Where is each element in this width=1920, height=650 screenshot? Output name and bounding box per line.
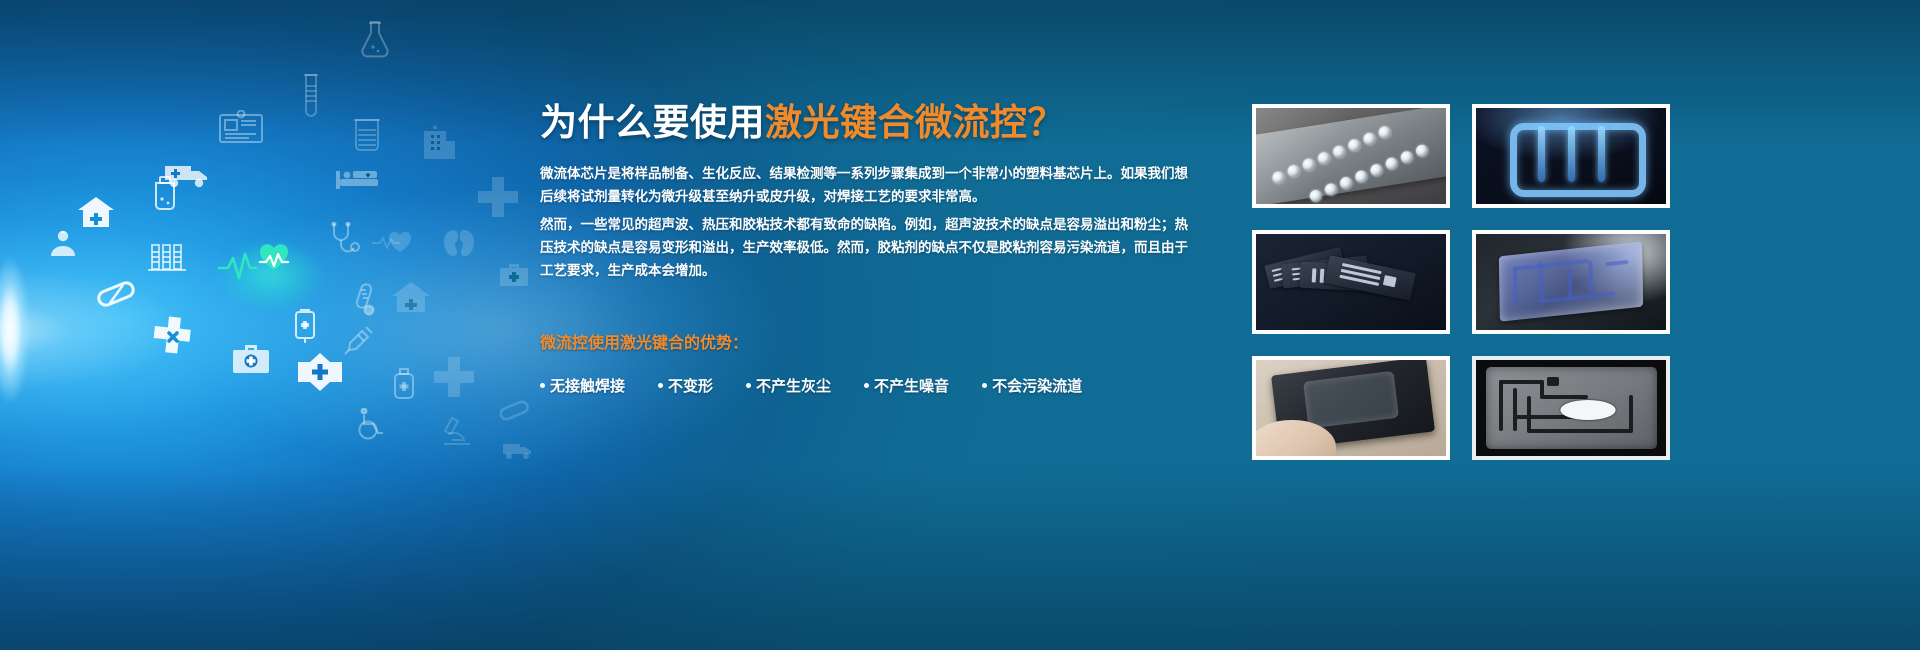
- list-item: 不产生噪音: [864, 375, 949, 396]
- list-item: 不变形: [658, 375, 713, 396]
- photo-fan-of-microfluidic-slides[interactable]: [1252, 230, 1450, 334]
- bullet-dot-icon: [982, 383, 987, 388]
- list-item: 不产生灰尘: [746, 375, 831, 396]
- text-column: 为什么要使用激光键合微流控？ 微流体芯片是将样品制备、生化反应、结果检测等一系列…: [540, 92, 1200, 396]
- photo-image: [1476, 108, 1666, 204]
- manifold-body: [1499, 242, 1644, 323]
- chip-wells: [1252, 104, 1450, 208]
- photo-hand-holding-flexible-chip[interactable]: [1252, 356, 1450, 460]
- bullet-dot-icon: [658, 383, 663, 388]
- bullet-dot-icon: [864, 383, 869, 388]
- photo-image: [1476, 234, 1666, 330]
- chip-window: [1303, 371, 1398, 428]
- list-item: 无接触焊接: [540, 375, 625, 396]
- advantages-list: 无接触焊接 不变形 不产生灰尘 不产生噪音 不会污染流道: [540, 375, 1200, 396]
- serpentine-channel: [1510, 123, 1646, 197]
- photo-blue-transparent-manifold[interactable]: [1472, 230, 1670, 334]
- photo-image: [1476, 360, 1666, 456]
- photo-image: [1256, 234, 1446, 330]
- bullet-dot-icon: [746, 383, 751, 388]
- advantage-label: 不产生灰尘: [756, 375, 831, 396]
- promo-banner: 为什么要使用激光键合微流控？ 微流体芯片是将样品制备、生化反应、结果检测等一系列…: [0, 0, 1920, 650]
- list-item: 不会污染流道: [982, 375, 1082, 396]
- cartridge-plate: [1486, 367, 1657, 450]
- reaction-chamber: [1561, 400, 1616, 420]
- advantage-label: 不产生噪音: [874, 375, 949, 396]
- advantage-label: 无接触焊接: [550, 375, 625, 396]
- bullet-dot-icon: [540, 383, 545, 388]
- headline-accent-part: 激光键合微流控？: [765, 102, 1065, 143]
- intro-paragraph-1: 微流体芯片是将样品制备、生化反应、结果检测等一系列步骤集成到一个非常小的塑料基芯…: [540, 162, 1200, 208]
- intro-paragraph-2: 然而，一些常见的超声波、热压和胶粘技术都有致命的缺陷。例如，超声波技术的缺点是容…: [540, 213, 1200, 282]
- photo-image: [1256, 108, 1446, 204]
- headline-white-part: 为什么要使用: [540, 102, 765, 143]
- photo-serpentine-channel-chip[interactable]: [1472, 104, 1670, 208]
- photo-image: [1256, 360, 1446, 456]
- photo-microfluidic-chip-with-wells[interactable]: [1252, 104, 1450, 208]
- advantages-subtitle: 微流控使用激光键合的优势：: [540, 329, 1200, 353]
- advantage-label: 不变形: [668, 375, 713, 396]
- photo-grey-cartridge-with-chamber[interactable]: [1472, 356, 1670, 460]
- advantage-label: 不会污染流道: [992, 375, 1082, 396]
- product-photo-grid: [1252, 104, 1670, 460]
- page-title: 为什么要使用激光键合微流控？: [540, 92, 1200, 146]
